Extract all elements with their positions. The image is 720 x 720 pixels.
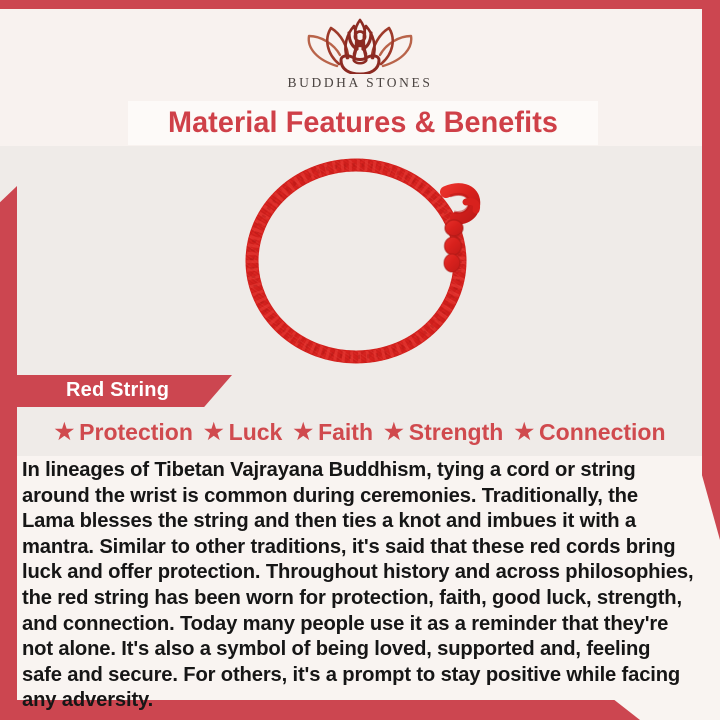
red-string-bracelet-image xyxy=(228,156,508,371)
description-paragraph: In lineages of Tibetan Vajrayana Buddhis… xyxy=(22,458,694,714)
description-block: In lineages of Tibetan Vajrayana Buddhis… xyxy=(22,458,694,714)
benefit-item-connection: ★ Connection xyxy=(514,419,665,446)
benefit-item-faith: ★ Faith xyxy=(293,419,373,446)
star-icon: ★ xyxy=(384,421,404,443)
star-icon: ★ xyxy=(293,421,313,443)
lotus-meditation-icon xyxy=(297,14,423,74)
braided-cord-loop-graphic xyxy=(228,156,508,371)
benefit-label: Strength xyxy=(409,419,504,446)
top-red-border xyxy=(0,0,720,9)
benefit-label: Connection xyxy=(539,419,666,446)
page-title: Material Features & Benefits xyxy=(137,101,588,145)
material-name-label: Red String xyxy=(66,375,169,407)
benefit-item-protection: ★ Protection xyxy=(54,419,192,446)
star-icon: ★ xyxy=(204,421,224,443)
product-info-poster: BUDDHA STONES Material Features & Benefi… xyxy=(0,0,720,720)
benefit-label: Protection xyxy=(79,419,193,446)
star-icon: ★ xyxy=(514,421,534,443)
benefit-item-strength: ★ Strength xyxy=(384,419,503,446)
product-photo-area xyxy=(0,146,720,371)
benefits-row: ★ Protection ★ Luck ★ Faith ★ Strength ★… xyxy=(0,419,720,446)
brand-name: BUDDHA STONES xyxy=(0,75,720,91)
brand-logo: BUDDHA STONES xyxy=(0,14,720,91)
benefit-label: Faith xyxy=(318,419,373,446)
star-icon: ★ xyxy=(54,421,74,443)
benefit-label: Luck xyxy=(229,419,283,446)
benefit-item-luck: ★ Luck xyxy=(204,419,282,446)
